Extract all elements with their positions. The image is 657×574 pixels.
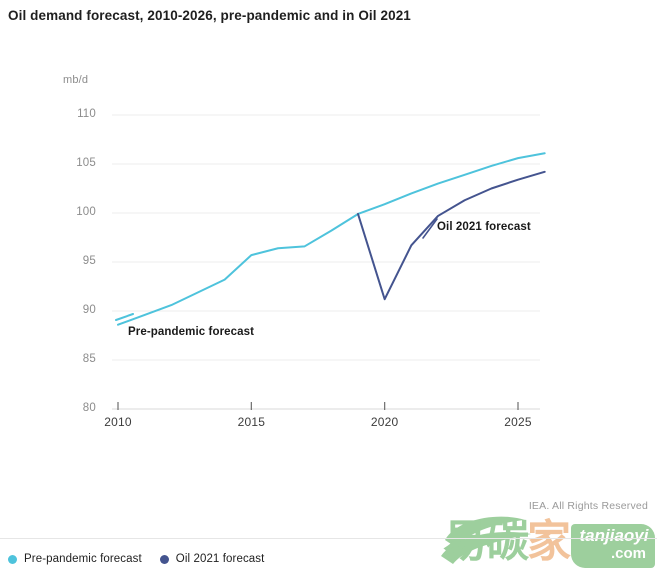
legend-item-1[interactable]: Pre-pandemic forecast <box>8 553 142 565</box>
watermark-swoosh-icon <box>439 510 579 570</box>
watermark-char-1: 易 <box>443 516 485 567</box>
x-tick-label: 2020 <box>360 415 410 429</box>
watermark: 易碳家 tanjiaoyi .com <box>443 512 655 574</box>
watermark-site-tld: .com <box>576 545 652 563</box>
footer-divider <box>0 538 657 539</box>
chart-svg <box>0 0 657 470</box>
watermark-badge <box>571 524 655 568</box>
annotation-leader-lines-group <box>116 219 437 320</box>
legend-item-2[interactable]: Oil 2021 forecast <box>160 553 265 565</box>
y-tick-label: 105 <box>62 157 96 169</box>
legend-swatch-icon <box>8 555 17 564</box>
y-tick-label: 90 <box>62 304 96 316</box>
y-axis-unit-label: mb/d <box>63 74 88 86</box>
chart-page: Oil demand forecast, 2010-2026, pre-pand… <box>0 0 657 574</box>
legend-swatch-icon <box>160 555 169 564</box>
y-tick-label: 100 <box>62 206 96 218</box>
annotation-oil-2021: Oil 2021 forecast <box>437 221 531 233</box>
watermark-cjk-text: 易碳家 <box>443 514 569 570</box>
chart-plot-area: mb/d 11010510095908580 2010201520202025 … <box>0 0 657 470</box>
y-tick-label: 110 <box>62 108 96 120</box>
y-tick-label: 85 <box>62 353 96 365</box>
chart-legend: Pre-pandemic forecastOil 2021 forecast <box>8 553 264 565</box>
x-tick-label: 2025 <box>493 415 543 429</box>
series-line-pre-pandemic-forecast <box>118 153 545 325</box>
copyright-credit: IEA. All Rights Reserved <box>529 500 648 512</box>
y-tick-label: 95 <box>62 255 96 267</box>
watermark-char-3: 家 <box>527 516 569 567</box>
legend-label: Pre-pandemic forecast <box>24 553 142 565</box>
annotation-pre-pandemic: Pre-pandemic forecast <box>128 326 254 338</box>
legend-label: Oil 2021 forecast <box>176 553 265 565</box>
x-tick-label: 2015 <box>226 415 276 429</box>
watermark-site-name: tanjiaoyi <box>576 526 652 546</box>
series-line-oil-2021-forecast <box>358 172 545 299</box>
x-tick-label: 2010 <box>93 415 143 429</box>
series-lines-group <box>118 153 545 325</box>
leader-line-oil-2021 <box>423 219 437 238</box>
gridlines-group <box>112 115 540 360</box>
y-tick-label: 80 <box>62 402 96 414</box>
watermark-char-2: 碳 <box>485 516 527 567</box>
